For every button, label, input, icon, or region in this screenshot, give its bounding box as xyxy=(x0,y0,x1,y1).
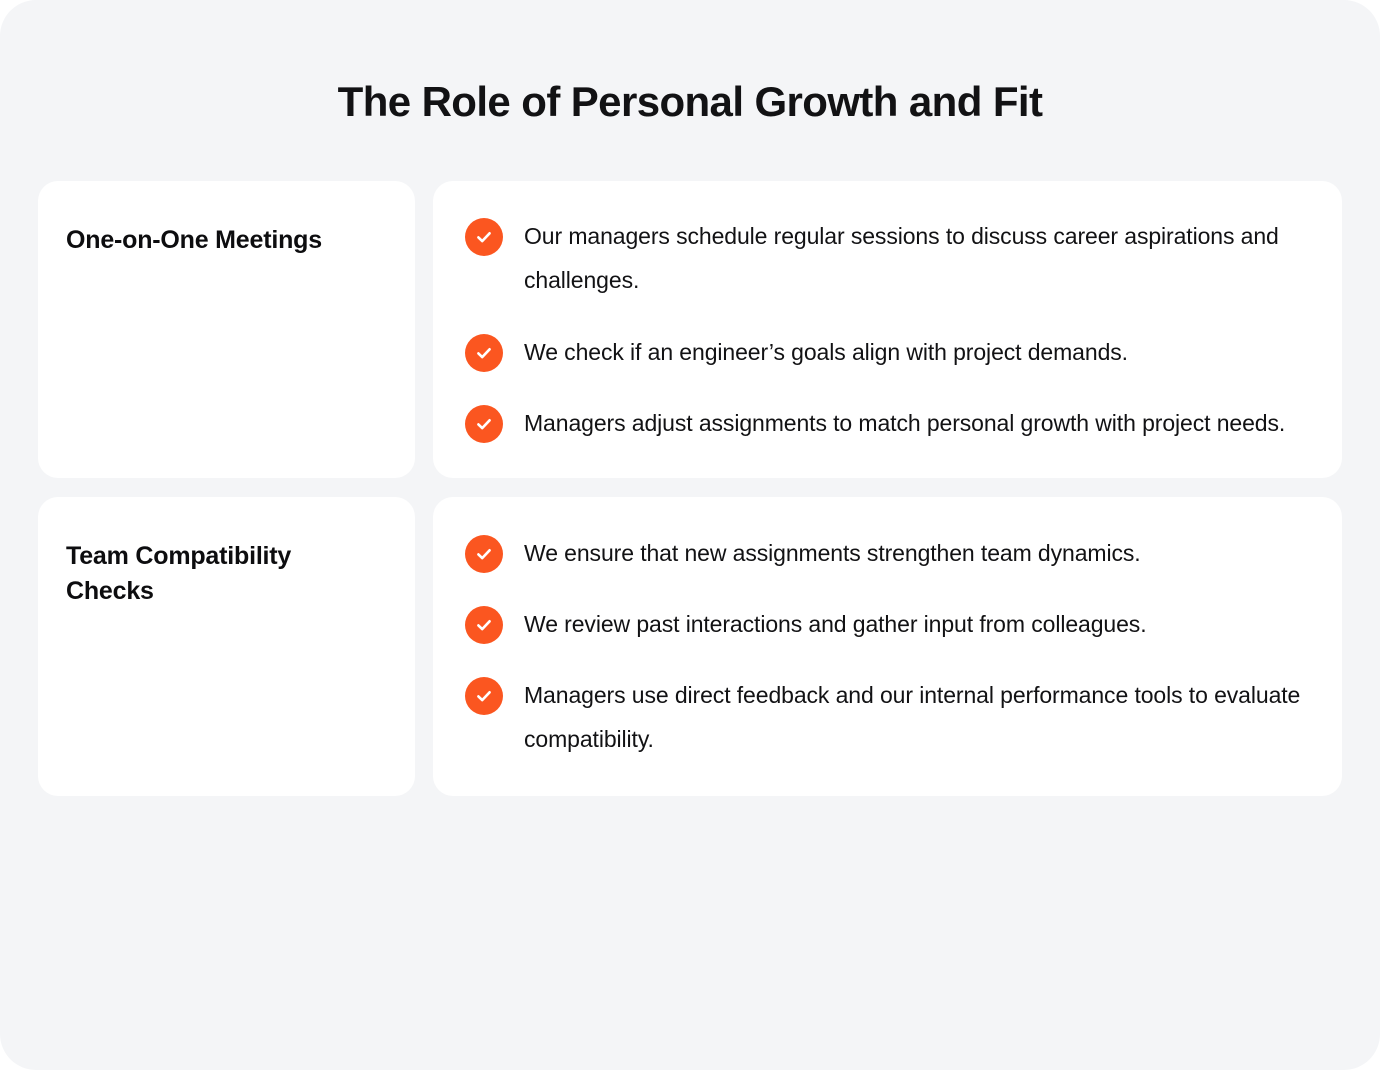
list-item-text: Our managers schedule regular sessions t… xyxy=(524,214,1302,302)
list-item: Our managers schedule regular sessions t… xyxy=(465,214,1302,302)
check-circle-icon xyxy=(465,218,503,256)
section-items-card: We ensure that new assignments strengthe… xyxy=(433,497,1342,796)
list-item: Managers use direct feedback and our int… xyxy=(465,673,1302,761)
sections-container: One-on-One Meetings Our managers schedul… xyxy=(0,181,1380,795)
section-label-card: Team Compatibility Checks xyxy=(38,497,415,796)
section-label: Team Compatibility Checks xyxy=(66,539,366,610)
check-circle-icon xyxy=(465,334,503,372)
check-circle-icon xyxy=(465,535,503,573)
check-circle-icon xyxy=(465,606,503,644)
check-circle-icon xyxy=(465,405,503,443)
list-item: We review past interactions and gather i… xyxy=(465,602,1302,646)
section-items-card: Our managers schedule regular sessions t… xyxy=(433,181,1342,478)
check-circle-icon xyxy=(465,677,503,715)
list-item-text: We review past interactions and gather i… xyxy=(524,602,1146,646)
list-item: We check if an engineer’s goals align wi… xyxy=(465,330,1302,374)
page-title: The Role of Personal Growth and Fit xyxy=(0,0,1380,126)
list-item-text: Managers use direct feedback and our int… xyxy=(524,673,1302,761)
list-item: Managers adjust assignments to match per… xyxy=(465,401,1302,445)
page-root: The Role of Personal Growth and Fit One-… xyxy=(0,0,1380,1070)
list-item: We ensure that new assignments strengthe… xyxy=(465,531,1302,575)
section-row: Team Compatibility Checks We ensure that… xyxy=(38,497,1342,796)
section-row: One-on-One Meetings Our managers schedul… xyxy=(38,181,1342,478)
section-label-card: One-on-One Meetings xyxy=(38,181,415,478)
list-item-text: We check if an engineer’s goals align wi… xyxy=(524,330,1128,374)
section-label: One-on-One Meetings xyxy=(66,223,366,259)
list-item-text: We ensure that new assignments strengthe… xyxy=(524,531,1141,575)
list-item-text: Managers adjust assignments to match per… xyxy=(524,401,1285,445)
